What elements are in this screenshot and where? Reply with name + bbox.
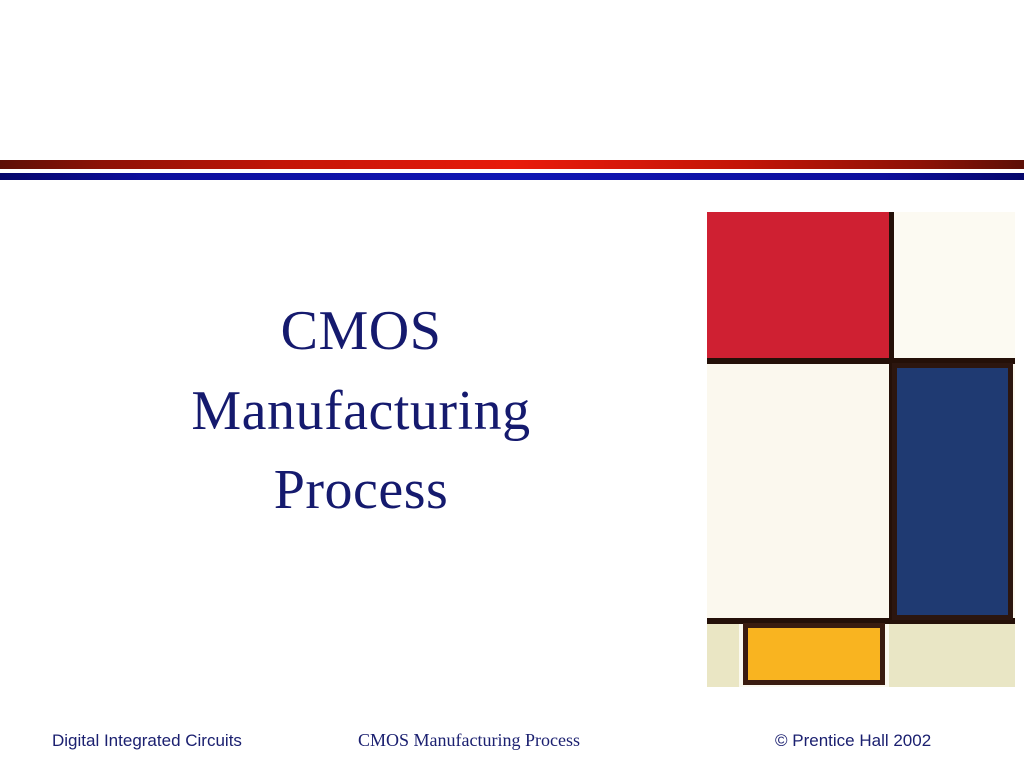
artwork-cream-bottom-right [889, 623, 1015, 687]
artwork-blue-block [892, 363, 1013, 620]
footer-book-title: Digital Integrated Circuits [52, 731, 242, 751]
header-red-rule [0, 160, 1024, 169]
slide-canvas: CMOS Manufacturing Process Digital Integ… [0, 0, 1024, 768]
artwork-cream-bottom-left [707, 623, 739, 687]
page-title: CMOS Manufacturing Process [96, 292, 626, 531]
footer-copyright: © Prentice Hall 2002 [775, 731, 931, 751]
footer-chapter-title: CMOS Manufacturing Process [358, 730, 580, 751]
artwork-cream-left-mid [707, 364, 888, 620]
header-blue-rule [0, 173, 1024, 180]
artwork-yellow-block [743, 623, 885, 685]
artwork-red-block [707, 212, 889, 358]
artwork-cream-upper-right [893, 212, 1015, 359]
mondrian-artwork [707, 212, 1015, 687]
